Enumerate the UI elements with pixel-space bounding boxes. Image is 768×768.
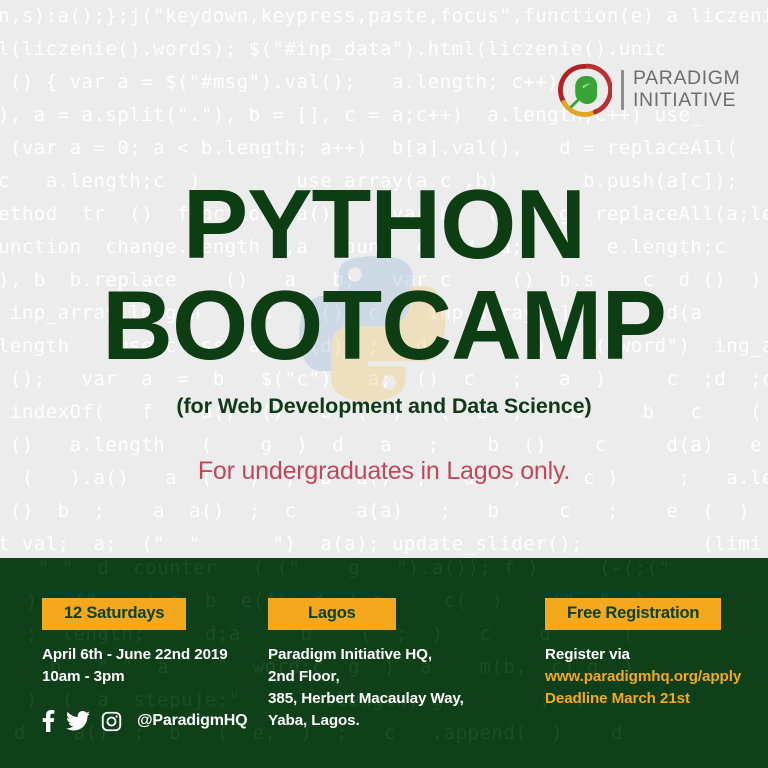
social-links: @ParadigmHQ — [42, 710, 247, 732]
footer-column-schedule: 12 Saturdays April 6th - June 22nd 2019 … — [42, 598, 252, 688]
eligibility-tagline: For undergraduates in Lagos only. — [0, 457, 768, 486]
registration-url[interactable]: www.paradigmhq.org/apply — [545, 666, 760, 688]
location-details: Paradigm Initiative HQ, 2nd Floor, 385, … — [268, 644, 518, 732]
badge-registration: Free Registration — [545, 598, 721, 630]
schedule-dates: April 6th - June 22nd 2019 — [42, 644, 252, 666]
title-line-1: PYTHON — [0, 178, 768, 271]
registration-details: Register via www.paradigmhq.org/apply De… — [545, 644, 760, 710]
instagram-icon[interactable] — [101, 711, 122, 732]
footer-column-location: Lagos Paradigm Initiative HQ, 2nd Floor,… — [268, 598, 518, 732]
title-line-2: BOOTCAMP — [0, 279, 768, 372]
brand-wordmark: PARADIGM INITIATIVE — [633, 68, 740, 112]
schedule-details: April 6th - June 22nd 2019 10am - 3pm — [42, 644, 252, 688]
subtitle: (for Web Development and Data Science) — [0, 394, 768, 419]
twitter-icon[interactable] — [66, 711, 90, 731]
address-line-1: Paradigm Initiative HQ, — [268, 644, 518, 666]
footer-column-registration: Free Registration Register via www.parad… — [545, 598, 760, 710]
paradigm-leaf-circle-icon — [556, 62, 612, 118]
badge-location: Lagos — [268, 598, 396, 630]
facebook-icon[interactable] — [42, 710, 55, 732]
address-line-4: Yaba, Lagos. — [268, 710, 518, 732]
registration-deadline: Deadline March 21st — [545, 688, 760, 710]
footer-dark-section: a " " d counter ( (" g ").a()); f ) (-(;… — [0, 558, 768, 768]
brand-line-2: INITIATIVE — [633, 90, 740, 112]
address-line-2: 2nd Floor, — [268, 666, 518, 688]
social-handle[interactable]: @ParadigmHQ — [137, 712, 247, 730]
brand-divider — [621, 70, 624, 110]
poster-root: on,s):a();};j("keydown,keypress,paste,fo… — [0, 0, 768, 768]
schedule-times: 10am - 3pm — [42, 666, 252, 688]
address-line-3: 385, Herbert Macaulay Way, — [268, 688, 518, 710]
brand-logo[interactable]: PARADIGM INITIATIVE — [556, 62, 740, 118]
brand-line-1: PARADIGM — [633, 68, 740, 90]
badge-schedule: 12 Saturdays — [42, 598, 186, 630]
register-via-label: Register via — [545, 644, 760, 666]
page-title: PYTHON BOOTCAMP — [0, 178, 768, 372]
